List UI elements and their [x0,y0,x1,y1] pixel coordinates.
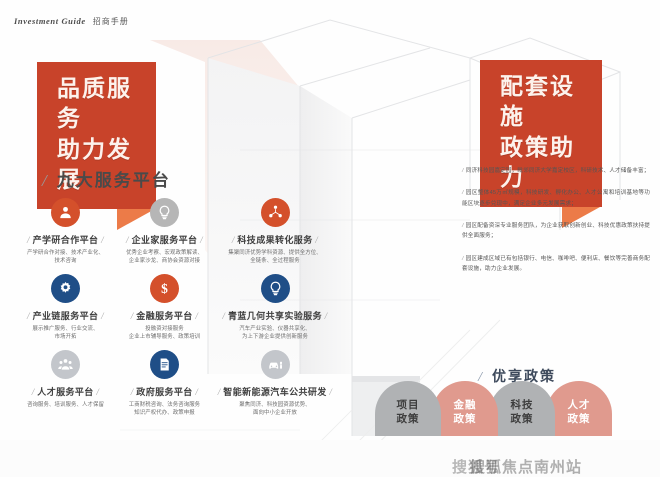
platform-name: / 智能新能源汽车公共研发 / [216,385,334,398]
ev-car-charge-icon [261,350,290,379]
network-people-icon [261,198,290,227]
bullet-text: 园区配备资深专业服务团队，为企业获取创新创业、科技优惠政策扶持提供全面服务； [462,223,650,239]
list-item: /园区建成区域已有包括银行、电信、咖啡吧、便利店、餐饮等完善商务配套设施，助力企… [462,254,650,275]
page-root: Investment Guide 招商手册 品质服务 助力发展 配套设施 政策助… [0,0,660,477]
platform-name-text: 科技成果转化服务 [237,235,312,245]
bullet-slash-icon: / [462,256,464,262]
platform-grid: / 产学研合作平台 / 产学研合作对接、技术产业化、 技术咨询 / 企业家服务平… [18,196,338,417]
platform-description: 投融资对接服务 企业上市辅导服务、政策培训 [117,325,212,342]
policy-arch-label: 人才 政策 [568,399,591,426]
list-item: /园区配备资深专业服务团队，为企业获取创新创业、科技优惠政策扶持提供全面服务； [462,221,650,242]
platform-name: / 产学研合作平台 / [18,233,113,246]
platform-description: 聚焦同济、科技园资源优势、 面向中小企业开放 [216,401,334,418]
facility-bullet-list: /同济科技园嘉定园，毗邻同济大学嘉定校区，科研技术、人才储备丰富； /园区整体4… [462,166,650,286]
bullet-text: 同济科技园嘉定园，毗邻同济大学嘉定校区，科研技术、人才储备丰富； [466,168,650,174]
brand-title-cn: 招商手册 [93,16,129,27]
platform-card[interactable]: / 产学研合作平台 / 产学研合作对接、技术产业化、 技术咨询 [18,196,113,266]
platform-name: / 金融服务平台 / [117,309,212,322]
gear-icon [51,274,80,303]
bulb-idea-icon [261,274,290,303]
policy-arch-label: 金融 政策 [454,399,477,426]
platform-name-text: 政府服务平台 [136,387,192,397]
platform-name: / 科技成果转化服务 / [216,233,334,246]
section-title-platforms: / 九大服务平台 [42,166,171,191]
platform-description: 汽车产业实验、仪器共享化、 为上下游企业提供创新服务 [216,325,334,342]
platform-card[interactable]: / 政府服务平台 / 工商财税咨询、法务咨询服务 知识产权代办、政策申报 [117,348,212,418]
watermark-secondary-text: 搜狐焦点南州站 [470,456,582,477]
watermark: 搜狐号 搜狐焦点南州站 [452,456,500,477]
dollar-icon: $ [150,274,179,303]
platform-name-text: 金融服务平台 [136,311,192,321]
platform-card[interactable]: $ / 金融服务平台 / 投融资对接服务 企业上市辅导服务、政策培训 [117,272,212,342]
lightbulb-icon [150,198,179,227]
platform-name-text: 青蓝几何共享实验服务 [228,311,322,321]
platform-name-text: 产业链服务平台 [33,311,99,321]
section-title-platforms-text: 九大服务平台 [57,166,171,191]
brand-header: Investment Guide 招商手册 [14,16,129,27]
bullet-text: 园区建成区域已有包括银行、电信、咖啡吧、便利店、餐饮等完善商务配套设施，助力企业… [462,256,650,272]
platform-description: 展示推广服务、行业交流、 市场开拓 [18,325,113,342]
platform-name-text: 智能新能源汽车公共研发 [223,387,326,397]
policy-arch-project[interactable]: 项目 政策 [375,381,441,436]
person-icon [51,198,80,227]
platform-card[interactable]: / 企业家服务平台 / 优秀企业考察、宏观政策解读、 企业家沙龙、商协会资源对接 [117,196,212,266]
bullet-text: 园区整体45万㎡规模，科技研发、孵化办公、人才公寓和培训基地等功能区块逐步兑现中… [462,190,650,206]
bullet-slash-icon: / [462,223,464,229]
platform-card[interactable]: / 产业链服务平台 / 展示推广服务、行业交流、 市场开拓 [18,272,113,342]
document-icon [150,350,179,379]
platform-card[interactable]: / 青蓝几何共享实验服务 / 汽车产业实验、仪器共享化、 为上下游企业提供创新服… [216,272,334,342]
svg-text:$: $ [161,281,168,296]
platform-name: / 产业链服务平台 / [18,309,113,322]
policy-arch-group: 项目 政策 金融 政策 科技 政策 人才 政策 [375,381,603,436]
platform-description: 咨询服务、培训服务、人才保留 [18,401,113,409]
platform-name-text: 人才服务平台 [37,387,93,397]
platform-description: 产学研合作对接、技术产业化、 技术咨询 [18,249,113,266]
platform-card[interactable]: / 科技成果转化服务 / 集聚同济优势学科资源、提供全方位、 全链条、全过程服务 [216,196,334,266]
platform-name: / 人才服务平台 / [18,385,113,398]
policy-arch-finance[interactable]: 金融 政策 [432,381,498,436]
list-item: /同济科技园嘉定园，毗邻同济大学嘉定校区，科研技术、人才储备丰富； [462,166,650,176]
platform-description: 工商财税咨询、法务咨询服务 知识产权代办、政策申报 [117,401,212,418]
title-slash-icon: / [42,171,49,191]
platform-name-text: 产学研合作平台 [33,235,99,245]
policy-arch-technology[interactable]: 科技 政策 [489,381,555,436]
platform-name: / 青蓝几何共享实验服务 / [216,309,334,322]
policy-arch-label: 科技 政策 [511,399,534,426]
platform-card[interactable]: / 智能新能源汽车公共研发 / 聚焦同济、科技园资源优势、 面向中小企业开放 [216,348,334,418]
brand-title-en: Investment Guide [14,16,86,26]
platform-name: / 企业家服务平台 / [117,233,212,246]
bullet-slash-icon: / [462,190,464,196]
platform-name-text: 企业家服务平台 [132,235,198,245]
policy-arch-label: 项目 政策 [397,399,420,426]
people-group-icon [51,350,80,379]
policy-arch-talent[interactable]: 人才 政策 [546,381,612,436]
list-item: /园区整体45万㎡规模，科技研发、孵化办公、人才公寓和培训基地等功能区块逐步兑现… [462,188,650,209]
platform-name: / 政府服务平台 / [117,385,212,398]
bullet-slash-icon: / [462,168,464,174]
platform-description: 优秀企业考察、宏观政策解读、 企业家沙龙、商协会资源对接 [117,249,212,266]
platform-description: 集聚同济优势学科资源、提供全方位、 全链条、全过程服务 [216,249,334,266]
platform-card[interactable]: / 人才服务平台 / 咨询服务、培训服务、人才保留 [18,348,113,418]
